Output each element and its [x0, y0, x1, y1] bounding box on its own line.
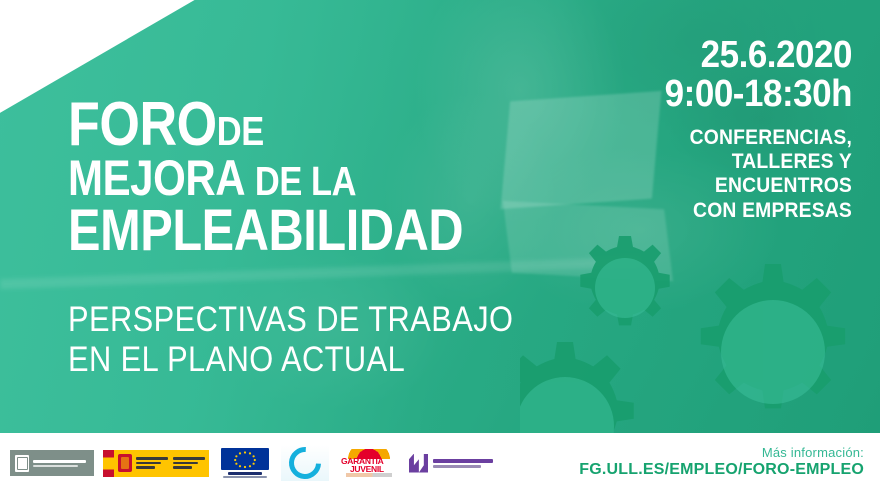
garantia-footer-bar [346, 473, 392, 477]
more-info-label: Más información: [579, 445, 864, 460]
logo-gobierno-espana [103, 448, 209, 478]
sponsor-logos: GARANTIA JUVENIL [10, 441, 495, 485]
logo-universidad-la-laguna [409, 448, 495, 478]
headline-line-2: MEJORA DE LA [68, 155, 538, 201]
event-url[interactable]: FG.ULL.ES/EMPLEO/FORO-EMPLEO [579, 461, 864, 479]
subtitle-line-2: EN EL PLANO ACTUAL [68, 340, 614, 380]
event-info-block: 25.6.2020 9:00-18:30h CONFERENCIAS, TALL… [620, 36, 852, 223]
poster-footer: GARANTIA JUVENIL Más información: FG.ULL… [0, 433, 880, 495]
event-date: 25.6.2020 [639, 36, 852, 75]
headline-de: DE [217, 108, 264, 154]
subtitle-line-1: PERSPECTIVAS DE TRABAJO [68, 300, 614, 340]
spain-coat-of-arms-icon [118, 454, 132, 472]
headline-line-3: EMPLEABILIDAD [68, 204, 538, 257]
event-time: 9:00-18:30h [639, 75, 852, 114]
ull-monogram-icon [409, 454, 428, 473]
logo-garantia-juvenil: GARANTIA JUVENIL [338, 448, 400, 478]
eu-flag-icon [221, 448, 269, 470]
event-poster: FORODE MEJORA DE LA EMPLEABILIDAD PERSPE… [0, 0, 880, 495]
event-description: CONFERENCIAS, TALLERES Y ENCUENTROS CON … [639, 126, 852, 223]
canarias-crest-icon [15, 455, 29, 472]
event-desc-line-4: CON EMPRESAS [639, 199, 852, 223]
headline-foro: FORO [68, 90, 217, 159]
headline-line-1: FORODE [68, 96, 538, 153]
event-desc-line-1: CONFERENCIAS, [639, 126, 852, 150]
contact-info: Más información: FG.ULL.ES/EMPLEO/FORO-E… [579, 445, 864, 479]
spain-flag-icon [103, 450, 114, 477]
spain-wordmark [136, 457, 205, 469]
eu-caption [222, 472, 268, 478]
poster-subtitle: PERSPECTIVAS DE TRABAJO EN EL PLANO ACTU… [68, 300, 614, 380]
logo-gobierno-canarias [10, 448, 94, 478]
logo-c [281, 448, 329, 478]
ull-wordmark [433, 459, 495, 468]
event-desc-line-2: TALLERES Y [639, 150, 852, 174]
logo-union-europea [218, 448, 272, 478]
hero-green-band: FORODE MEJORA DE LA EMPLEABILIDAD PERSPE… [0, 0, 880, 433]
event-desc-line-3: ENCUENTROS [639, 174, 852, 198]
c-letter-icon [282, 440, 327, 485]
canarias-wordmark [33, 460, 89, 467]
poster-headline: FORODE MEJORA DE LA EMPLEABILIDAD [68, 96, 628, 257]
